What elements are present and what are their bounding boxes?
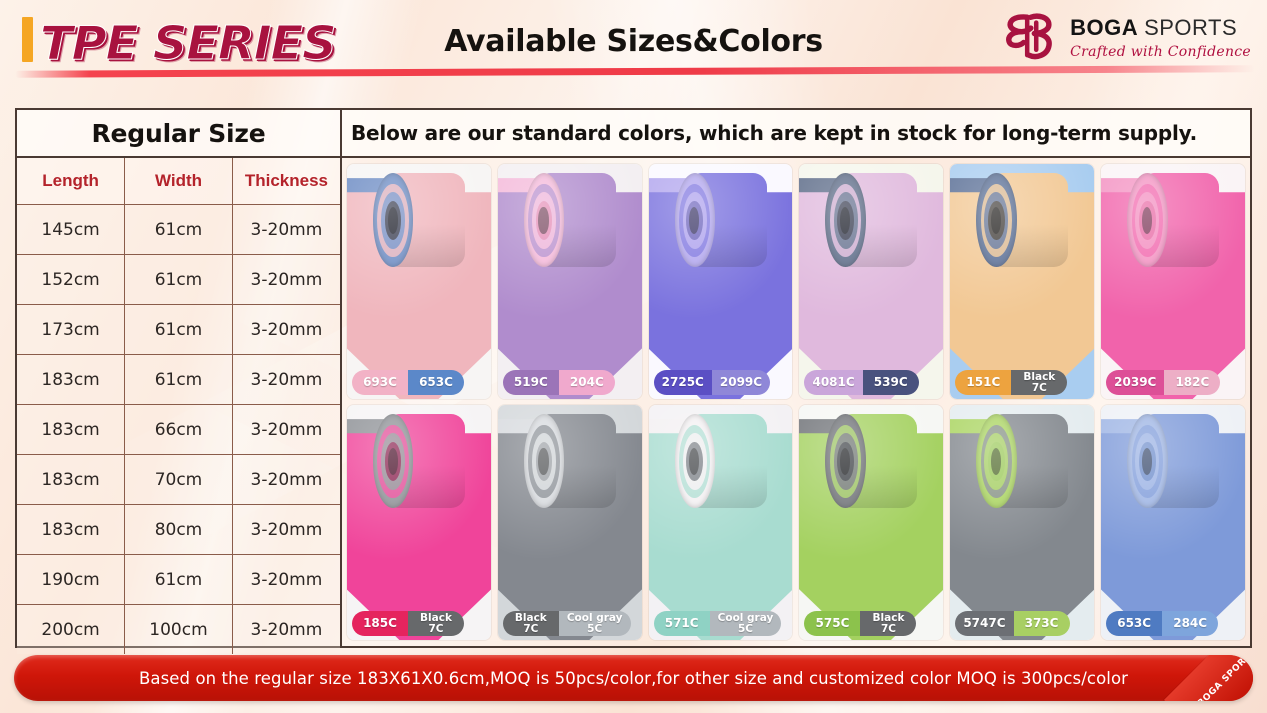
- size-table-title: Regular Size: [17, 110, 340, 158]
- cell-length: 183cm: [17, 405, 125, 455]
- color-swatch-cell[interactable]: 2725C2099C: [649, 164, 793, 399]
- color-swatch-cell[interactable]: 185CBlack7C: [347, 405, 491, 640]
- color-code-badges: 519C204C: [503, 370, 615, 395]
- color-code-badge[interactable]: 373C: [1014, 611, 1070, 636]
- color-code-badges: 4081C539C: [804, 370, 918, 395]
- color-code-badges: 185CBlack7C: [352, 611, 464, 636]
- size-table: Length Width Thickness 145cm61cm3-20mm15…: [17, 158, 340, 654]
- color-code-badge[interactable]: Cool gray5C: [710, 611, 782, 636]
- color-code-badge[interactable]: 185C: [352, 611, 408, 636]
- color-swatch-cell[interactable]: Black7CCool gray5C: [498, 405, 642, 640]
- cell-length: 145cm: [17, 205, 125, 255]
- color-code-badges: 2725C2099C: [654, 370, 770, 395]
- brand-logo: BOGASPORTS Crafted with Confidence: [1000, 10, 1251, 66]
- mat-roll: [1127, 414, 1219, 508]
- table-row: 200cm100cm3-20mm: [17, 605, 340, 655]
- cell-thickness: 3-20mm: [232, 405, 340, 455]
- color-code-badge[interactable]: Black7C: [860, 611, 916, 636]
- size-table-panel: Regular Size Length Width Thickness 145c…: [17, 110, 342, 646]
- color-code-badge[interactable]: 284C: [1162, 611, 1218, 636]
- mat-roll: [373, 414, 465, 508]
- cell-thickness: 3-20mm: [232, 255, 340, 305]
- color-code-badges: 5747C373C: [955, 611, 1069, 636]
- column-header-length: Length: [17, 158, 125, 205]
- cell-length: 183cm: [17, 355, 125, 405]
- color-swatch-cell[interactable]: 519C204C: [498, 164, 642, 399]
- color-code-badge[interactable]: 653C: [408, 370, 464, 395]
- size-table-title-text: Regular Size: [91, 119, 265, 148]
- color-code-badge[interactable]: 571C: [654, 611, 710, 636]
- mat-tan-blue-photo: [950, 164, 1094, 399]
- brand-boga: BOGA: [1070, 15, 1138, 40]
- mat-roll: [825, 414, 917, 508]
- color-code-badge[interactable]: Black7C: [408, 611, 464, 636]
- color-code-badges: 693C653C: [352, 370, 464, 395]
- cell-length: 152cm: [17, 255, 125, 305]
- table-row: 173cm61cm3-20mm: [17, 305, 340, 355]
- mat-roll: [1127, 173, 1219, 267]
- table-row: 183cm61cm3-20mm: [17, 355, 340, 405]
- color-code-badge[interactable]: 2039C: [1106, 370, 1164, 395]
- content-board: Regular Size Length Width Thickness 145c…: [15, 108, 1252, 648]
- cell-thickness: 3-20mm: [232, 455, 340, 505]
- color-code-badge[interactable]: 575C: [804, 611, 860, 636]
- color-swatch-cell[interactable]: 151CBlack7C: [950, 164, 1094, 399]
- cell-width: 80cm: [125, 505, 233, 555]
- column-header-width: Width: [125, 158, 233, 205]
- cell-thickness: 3-20mm: [232, 355, 340, 405]
- mat-roll: [373, 173, 465, 267]
- color-code-badge[interactable]: 204C: [559, 370, 615, 395]
- colors-panel: Below are our standard colors, which are…: [342, 110, 1250, 646]
- column-header-thickness: Thickness: [232, 158, 340, 205]
- cell-thickness: 3-20mm: [232, 305, 340, 355]
- ribbon-corner-badge: BOGA SPORTS: [1164, 655, 1253, 701]
- table-row: 190cm61cm3-20mm: [17, 555, 340, 605]
- color-swatch-cell[interactable]: 4081C539C: [799, 164, 943, 399]
- table-row: 183cm66cm3-20mm: [17, 405, 340, 455]
- color-code-badge[interactable]: 539C: [863, 370, 919, 395]
- color-code-badge[interactable]: 653C: [1106, 611, 1162, 636]
- cell-width: 61cm: [125, 355, 233, 405]
- mat-pink-blue-photo: [347, 164, 491, 399]
- mat-magenta-gray-photo: [347, 405, 491, 640]
- color-code-badge[interactable]: Black7C: [1011, 370, 1067, 395]
- colors-panel-heading: Below are our standard colors, which are…: [342, 110, 1250, 158]
- cell-thickness: 3-20mm: [232, 555, 340, 605]
- footer-ribbon: Based on the regular size 183X61X0.6cm,M…: [14, 655, 1253, 701]
- mat-mint-gray-photo: [649, 405, 793, 640]
- boga-monogram-icon: [1000, 10, 1058, 66]
- page-header: TPE SERIES Available Sizes&Colors BOGASP…: [0, 0, 1267, 84]
- ribbon-corner-label: BOGA SPORTS: [1196, 655, 1253, 701]
- mat-roll: [976, 173, 1068, 267]
- color-code-badge[interactable]: 2099C: [712, 370, 770, 395]
- mat-roll: [524, 414, 616, 508]
- cell-thickness: 3-20mm: [232, 505, 340, 555]
- color-code-badge[interactable]: Cool gray5C: [559, 611, 631, 636]
- brand-sports: SPORTS: [1144, 15, 1237, 40]
- mat-violet-photo: [649, 164, 793, 399]
- cell-length: 190cm: [17, 555, 125, 605]
- color-code-badges: 571CCool gray5C: [654, 611, 782, 636]
- mat-roll: [675, 173, 767, 267]
- table-row: 152cm61cm3-20mm: [17, 255, 340, 305]
- color-code-badge[interactable]: 2725C: [654, 370, 712, 395]
- colors-panel-heading-text: Below are our standard colors, which are…: [351, 121, 1197, 145]
- color-code-badge[interactable]: 151C: [955, 370, 1011, 395]
- cell-length: 173cm: [17, 305, 125, 355]
- mat-roll: [524, 173, 616, 267]
- color-code-badges: Black7CCool gray5C: [503, 611, 631, 636]
- color-code-badges: 653C284C: [1106, 611, 1218, 636]
- footer-note: Based on the regular size 183X61X0.6cm,M…: [139, 669, 1128, 688]
- color-swatch-cell[interactable]: 693C653C: [347, 164, 491, 399]
- brand-tagline: Crafted with Confidence: [1070, 45, 1251, 59]
- cell-thickness: 3-20mm: [232, 605, 340, 655]
- mat-hot-pink-photo: [1101, 164, 1245, 399]
- cell-width: 61cm: [125, 555, 233, 605]
- cell-length: 183cm: [17, 505, 125, 555]
- mat-lilac-slate-photo: [799, 164, 943, 399]
- cell-width: 61cm: [125, 305, 233, 355]
- mat-gray-lightgray-photo: [498, 405, 642, 640]
- color-code-badge[interactable]: 693C: [352, 370, 408, 395]
- cell-length: 200cm: [17, 605, 125, 655]
- cell-width: 70cm: [125, 455, 233, 505]
- color-code-badge[interactable]: 5747C: [955, 611, 1013, 636]
- table-row: 145cm61cm3-20mm: [17, 205, 340, 255]
- cell-width: 100cm: [125, 605, 233, 655]
- mat-roll: [976, 414, 1068, 508]
- color-swatch-cell[interactable]: 571CCool gray5C: [649, 405, 793, 640]
- mat-purple-pink-photo: [498, 164, 642, 399]
- color-code-badge[interactable]: 4081C: [804, 370, 862, 395]
- mat-roll: [825, 173, 917, 267]
- color-code-badge[interactable]: Black7C: [503, 611, 559, 636]
- color-code-badges: 2039C182C: [1106, 370, 1220, 395]
- color-swatch-cell[interactable]: 5747C373C: [950, 405, 1094, 640]
- color-code-badges: 575CBlack7C: [804, 611, 916, 636]
- color-swatch-cell[interactable]: 653C284C: [1101, 405, 1245, 640]
- mat-roll: [675, 414, 767, 508]
- mat-cornflower-photo: [1101, 405, 1245, 640]
- color-code-badge[interactable]: 182C: [1164, 370, 1220, 395]
- table-header-row: Length Width Thickness: [17, 158, 340, 205]
- mat-gray-lime-photo: [950, 405, 1094, 640]
- cell-thickness: 3-20mm: [232, 205, 340, 255]
- color-code-badge[interactable]: 519C: [503, 370, 559, 395]
- brand-name: BOGASPORTS: [1070, 17, 1251, 39]
- cell-width: 66cm: [125, 405, 233, 455]
- color-swatch-grid: 693C653C519C204C2725C2099C4081C539C151CB…: [342, 158, 1250, 646]
- cell-length: 183cm: [17, 455, 125, 505]
- mat-lime-gray-photo: [799, 405, 943, 640]
- table-row: 183cm80cm3-20mm: [17, 505, 340, 555]
- color-swatch-cell[interactable]: 575CBlack7C: [799, 405, 943, 640]
- color-code-badges: 151CBlack7C: [955, 370, 1067, 395]
- cell-width: 61cm: [125, 255, 233, 305]
- cell-width: 61cm: [125, 205, 233, 255]
- table-row: 183cm70cm3-20mm: [17, 455, 340, 505]
- color-swatch-cell[interactable]: 2039C182C: [1101, 164, 1245, 399]
